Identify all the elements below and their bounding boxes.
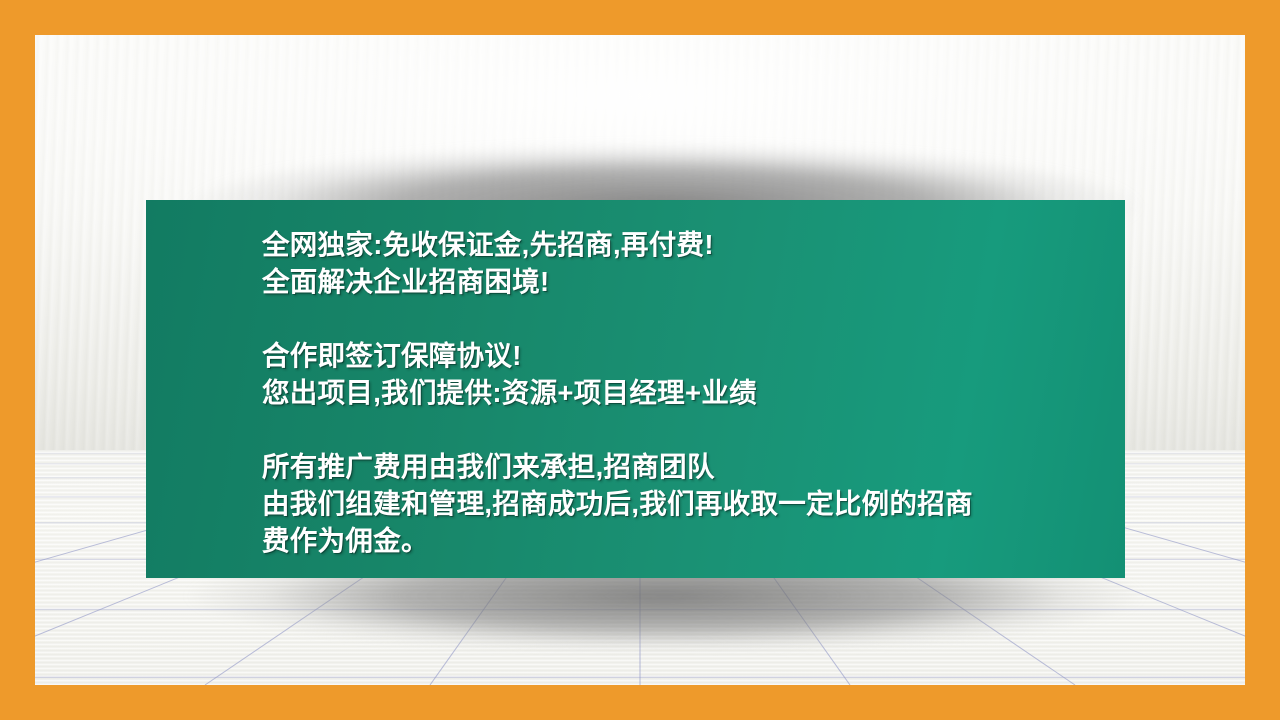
message-line: 您出项目,我们提供:资源+项目经理+业绩 — [262, 374, 1107, 411]
message-text-container: 全网独家:免收保证金,先招商,再付费! 全面解决企业招商困境! 合作即签订保障协… — [262, 226, 1107, 568]
message-line: 费作为佣金。 — [262, 522, 1107, 559]
slide-root: 全网独家:免收保证金,先招商,再付费! 全面解决企业招商困境! 合作即签订保障协… — [0, 0, 1280, 720]
message-line: 合作即签订保障协议! — [262, 337, 1107, 374]
message-line: 所有推广费用由我们来承担,招商团队 — [262, 448, 1107, 485]
paragraph-spacer — [262, 411, 1107, 448]
message-panel: 全网独家:免收保证金,先招商,再付费! 全面解决企业招商困境! 合作即签订保障协… — [146, 200, 1125, 578]
paragraph-spacer — [262, 300, 1107, 337]
room-scene: 全网独家:免收保证金,先招商,再付费! 全面解决企业招商困境! 合作即签订保障协… — [35, 35, 1245, 685]
message-line: 全网独家:免收保证金,先招商,再付费! — [262, 226, 1107, 263]
message-line: 全面解决企业招商困境! — [262, 263, 1107, 300]
message-line: 由我们组建和管理,招商成功后,我们再收取一定比例的招商 — [262, 485, 1107, 522]
